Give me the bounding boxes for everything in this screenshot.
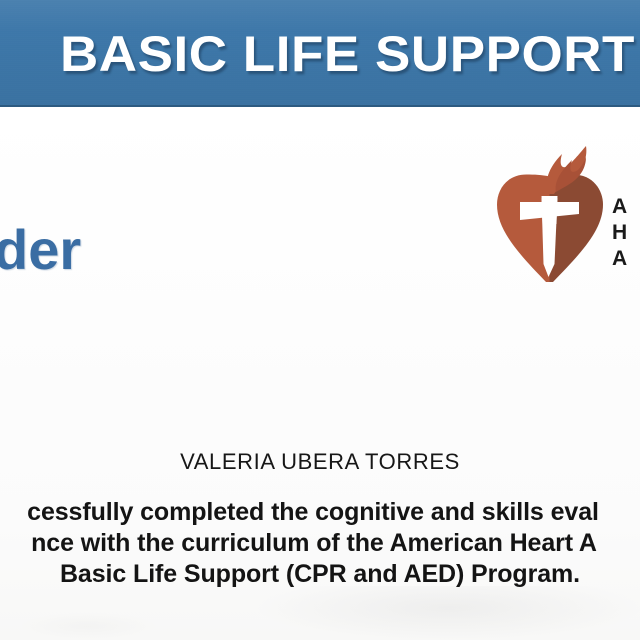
- aha-wordmark: A H A: [612, 194, 640, 272]
- aha-wordmark-line-1: A: [612, 194, 640, 220]
- statement-line-1: cessfully completed the cognitive and sk…: [0, 497, 640, 528]
- recipient-name: VALERIA UBERA TORRES: [0, 449, 640, 475]
- completion-statement: cessfully completed the cognitive and sk…: [0, 497, 640, 590]
- statement-line-2: nce with the curriculum of the American …: [0, 528, 640, 559]
- aha-heart-and-torch-icon: [496, 146, 604, 284]
- statement-line-3: Basic Life Support (CPR and AED) Program…: [0, 559, 640, 590]
- aha-logo: A H A: [496, 146, 640, 286]
- role-designation-text: der: [0, 221, 81, 279]
- scan-artifact-smudge-secondary: [18, 612, 158, 640]
- certification-card: BASIC LIFE SUPPORT der A H A VAL: [0, 0, 640, 640]
- aha-wordmark-line-2: H: [612, 220, 640, 246]
- scan-artifact-smudge: [258, 586, 640, 640]
- aha-wordmark-line-3: A: [612, 246, 640, 272]
- title-banner: BASIC LIFE SUPPORT: [0, 0, 640, 107]
- banner-title: BASIC LIFE SUPPORT: [60, 25, 620, 83]
